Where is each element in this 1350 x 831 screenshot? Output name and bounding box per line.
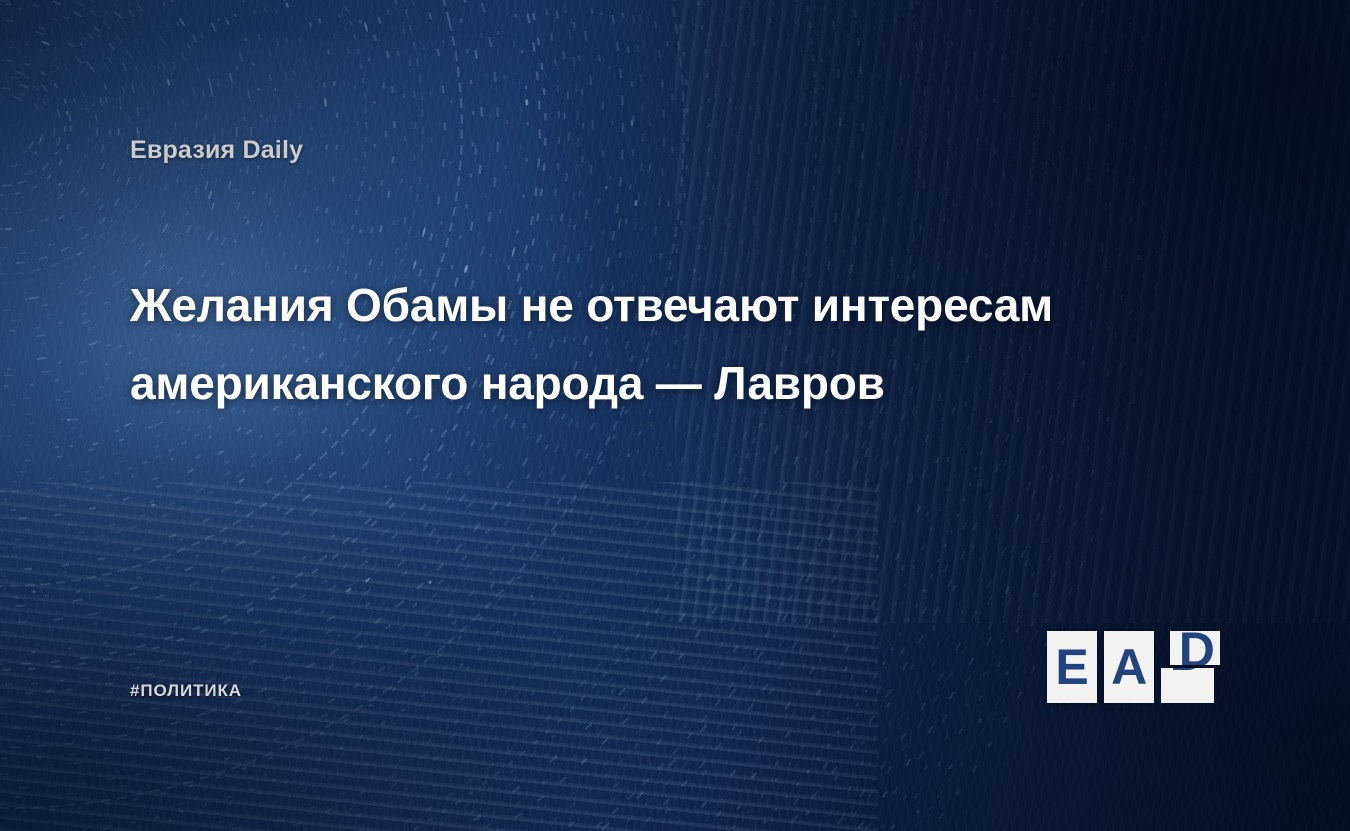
logo-letter-d-lower: D xyxy=(1170,668,1206,678)
logo-tile-d-split: D D xyxy=(1161,631,1220,703)
cover-content: Евразия Daily Желания Обамы не отвечают … xyxy=(0,0,1350,831)
eadaily-logo[interactable]: E A D D xyxy=(1047,631,1220,703)
logo-tile-a: A xyxy=(1104,631,1154,703)
page-title: Желания Обамы не отвечают интересам амер… xyxy=(130,266,1140,422)
site-name[interactable]: Евразия Daily xyxy=(130,136,303,165)
logo-letter-d-upper: D xyxy=(1179,631,1215,665)
article-cover-card: Евразия Daily Желания Обамы не отвечают … xyxy=(0,0,1350,831)
logo-letter-e: E xyxy=(1047,631,1097,703)
logo-tile-e: E xyxy=(1047,631,1097,703)
logo-letter-a: A xyxy=(1104,631,1154,703)
logo-letter-d-top-half: D xyxy=(1170,631,1220,665)
category-tag[interactable]: #ПОЛИТИКА xyxy=(130,681,242,701)
logo-letter-d-bottom-half: D xyxy=(1161,668,1214,703)
